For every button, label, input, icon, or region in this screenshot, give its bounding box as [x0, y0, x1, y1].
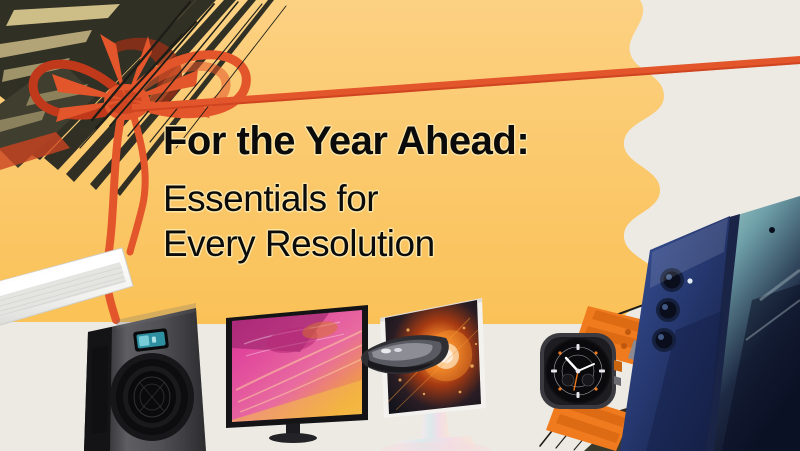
background-shapes — [0, 0, 800, 451]
promo-banner: For the Year Ahead: Essentials for Every… — [0, 0, 800, 451]
